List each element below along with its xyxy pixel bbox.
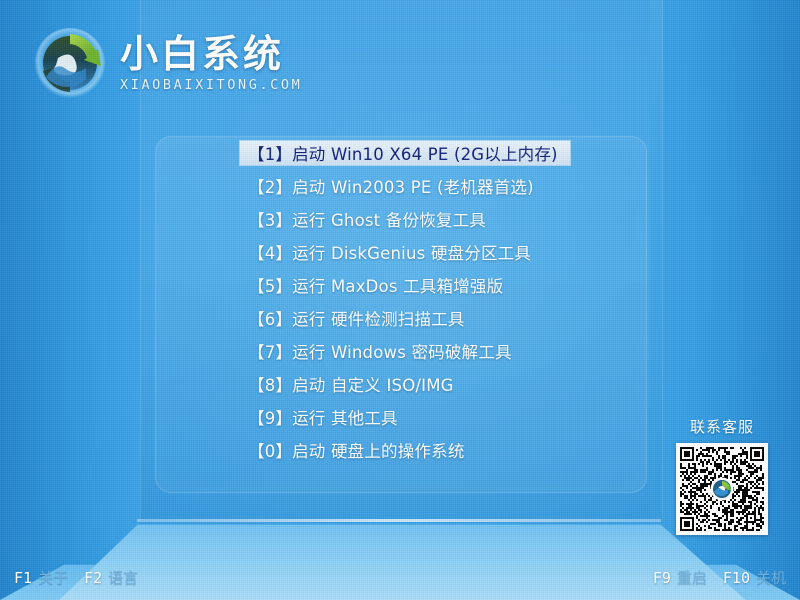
menu-item-label: 【6】运行 硬件检测扫描工具 <box>248 306 465 330</box>
qr-code-icon[interactable] <box>676 443 768 535</box>
menu-item-label: 【4】运行 DiskGenius 硬盘分区工具 <box>248 240 531 264</box>
menu-item-label: 【7】运行 Windows 密码破解工具 <box>248 339 512 363</box>
menu-item-1[interactable]: 【1】启动 Win10 X64 PE (2G以上内存) <box>240 141 570 165</box>
menu-item-5[interactable]: 【5】运行 MaxDos 工具箱增强版 <box>240 273 570 297</box>
menu-item-label: 【1】启动 Win10 X64 PE (2G以上内存) <box>248 141 558 165</box>
brand-text: 小白系统 XIAOBAIXITONG.COM <box>120 33 302 94</box>
brand-title: 小白系统 <box>120 35 302 75</box>
hint-f1[interactable]: F1关于 <box>14 567 68 588</box>
scene-dais-edge <box>137 519 661 522</box>
hint-f9[interactable]: F9重启 <box>653 567 707 588</box>
menu-item-label: 【3】运行 Ghost 备份恢复工具 <box>248 207 486 231</box>
contact-support-block: 联系客服 <box>672 416 772 535</box>
hint-label: 重启 <box>677 569 707 587</box>
menu-item-label: 【5】运行 MaxDos 工具箱增强版 <box>248 273 503 297</box>
boot-menu-screen: 小白系统 XIAOBAIXITONG.COM 【1】启动 Win10 X64 P… <box>0 0 800 600</box>
hints-left: F1关于F2语言 <box>14 567 138 588</box>
hint-key: F10 <box>723 569 750 587</box>
menu-item-label: 【2】启动 Win2003 PE (老机器首选) <box>248 174 534 198</box>
menu-item-label: 【9】运行 其他工具 <box>248 405 398 429</box>
menu-item-3[interactable]: 【3】运行 Ghost 备份恢复工具 <box>240 207 570 231</box>
brand-logo: 小白系统 XIAOBAIXITONG.COM <box>32 25 302 101</box>
hint-f2[interactable]: F2语言 <box>84 567 138 588</box>
boot-menu-list[interactable]: 【1】启动 Win10 X64 PE (2G以上内存)【2】启动 Win2003… <box>240 141 570 471</box>
menu-item-label: 【8】启动 自定义 ISO/IMG <box>248 372 454 396</box>
menu-item-7[interactable]: 【7】运行 Windows 密码破解工具 <box>240 339 570 363</box>
hint-key: F2 <box>84 569 102 587</box>
support-title: 联系客服 <box>672 416 772 437</box>
menu-item-0[interactable]: 【0】启动 硬盘上的操作系统 <box>240 438 570 462</box>
hint-label: 关机 <box>756 569 786 587</box>
menu-item-9[interactable]: 【9】运行 其他工具 <box>240 405 570 429</box>
menu-item-4[interactable]: 【4】运行 DiskGenius 硬盘分区工具 <box>240 240 570 264</box>
qr-center-logo-icon <box>712 479 732 499</box>
menu-item-6[interactable]: 【6】运行 硬件检测扫描工具 <box>240 306 570 330</box>
hint-label: 关于 <box>38 569 68 587</box>
hint-key: F9 <box>653 569 671 587</box>
recycle-globe-logo-icon <box>32 25 108 101</box>
hint-key: F1 <box>14 569 32 587</box>
hint-label: 语言 <box>108 569 138 587</box>
hint-f10[interactable]: F10关机 <box>723 567 786 588</box>
menu-item-label: 【0】启动 硬盘上的操作系统 <box>248 438 465 462</box>
menu-item-2[interactable]: 【2】启动 Win2003 PE (老机器首选) <box>240 174 570 198</box>
menu-item-8[interactable]: 【8】启动 自定义 ISO/IMG <box>240 372 570 396</box>
brand-subtitle: XIAOBAIXITONG.COM <box>120 77 302 93</box>
hints-right: F9重启F10关机 <box>653 567 786 588</box>
